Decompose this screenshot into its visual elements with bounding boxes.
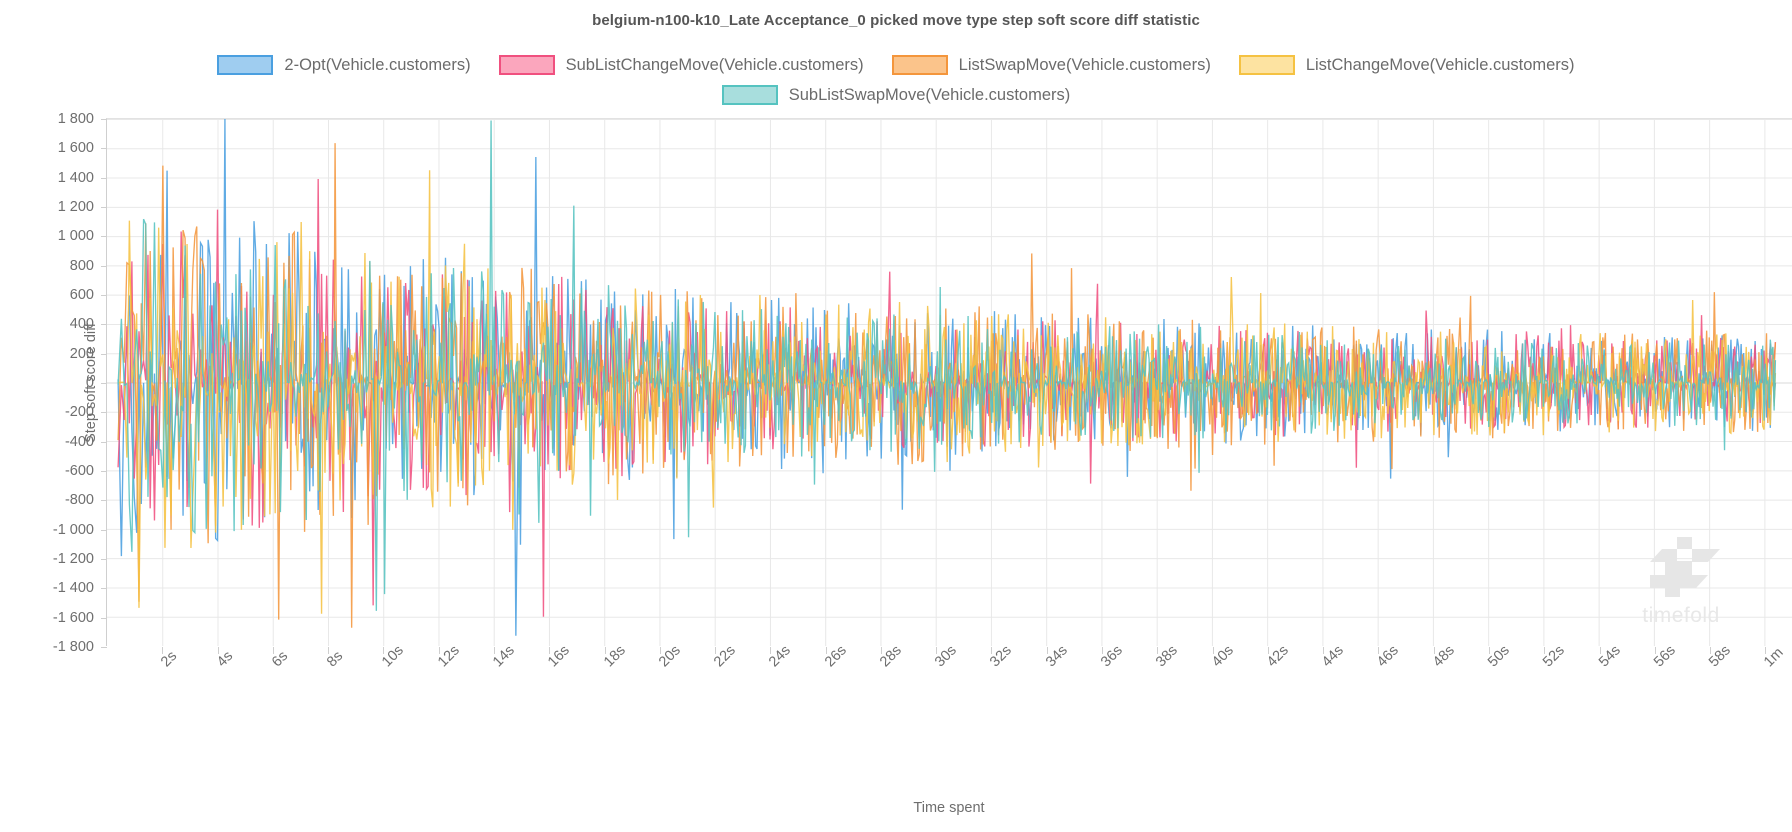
x-axis-title: Time spent bbox=[106, 800, 1792, 816]
y-tick-mark-2 bbox=[101, 178, 107, 179]
y-tick-mark-11 bbox=[101, 442, 107, 443]
y-tick-mark-6 bbox=[101, 295, 107, 296]
legend-label-1: SubListChangeMove(Vehicle.customers) bbox=[566, 56, 864, 75]
y-tick-mark-1 bbox=[101, 148, 107, 149]
y-tick-mark-8 bbox=[101, 354, 107, 355]
y-tick-mark-3 bbox=[101, 207, 107, 208]
y-tick-mark-10 bbox=[101, 412, 107, 413]
chart-container: belgium-n100-k10_Late Acceptance_0 picke… bbox=[0, 0, 1792, 832]
y-tick-label-3: 1 200 bbox=[0, 199, 94, 215]
legend-item-1[interactable]: SubListChangeMove(Vehicle.customers) bbox=[499, 55, 864, 75]
y-tick-mark-14 bbox=[101, 530, 107, 531]
legend-row-primary: 2-Opt(Vehicle.customers)SubListChangeMov… bbox=[0, 50, 1792, 80]
y-tick-mark-16 bbox=[101, 588, 107, 589]
y-tick-mark-18 bbox=[101, 647, 107, 648]
y-tick-mark-13 bbox=[101, 500, 107, 501]
y-tick-label-17: -1 600 bbox=[0, 610, 94, 626]
y-tick-mark-7 bbox=[101, 324, 107, 325]
legend-label-4: SubListSwapMove(Vehicle.customers) bbox=[789, 86, 1071, 105]
y-tick-label-11: -400 bbox=[0, 434, 94, 450]
series-layer bbox=[107, 119, 1792, 646]
y-tick-label-8: 200 bbox=[0, 346, 94, 362]
y-tick-label-14: -1 000 bbox=[0, 522, 94, 538]
legend-item-0[interactable]: 2-Opt(Vehicle.customers) bbox=[217, 55, 470, 75]
legend-swatch-icon-0 bbox=[217, 55, 273, 75]
series-line-4 bbox=[118, 120, 1775, 610]
legend-label-0: 2-Opt(Vehicle.customers) bbox=[284, 56, 470, 75]
y-tick-label-18: -1 800 bbox=[0, 639, 94, 655]
y-tick-label-6: 600 bbox=[0, 287, 94, 303]
y-tick-mark-0 bbox=[101, 119, 107, 120]
legend-row-secondary: SubListSwapMove(Vehicle.customers) bbox=[0, 80, 1792, 110]
y-tick-label-7: 400 bbox=[0, 316, 94, 332]
plot-area: timefold 1 8001 6001 4001 2001 000800600… bbox=[106, 118, 1792, 646]
y-tick-label-0: 1 800 bbox=[0, 111, 94, 127]
y-tick-label-16: -1 400 bbox=[0, 580, 94, 596]
y-tick-label-2: 1 400 bbox=[0, 170, 94, 186]
chart-title: belgium-n100-k10_Late Acceptance_0 picke… bbox=[0, 12, 1792, 29]
y-tick-label-10: -200 bbox=[0, 404, 94, 420]
legend-swatch-icon-2 bbox=[892, 55, 948, 75]
legend-label-2: ListSwapMove(Vehicle.customers) bbox=[959, 56, 1211, 75]
chart-legend: 2-Opt(Vehicle.customers)SubListChangeMov… bbox=[0, 50, 1792, 110]
y-tick-mark-12 bbox=[101, 471, 107, 472]
legend-swatch-icon-1 bbox=[499, 55, 555, 75]
y-tick-label-13: -800 bbox=[0, 492, 94, 508]
y-tick-label-5: 800 bbox=[0, 258, 94, 274]
y-tick-mark-9 bbox=[101, 383, 107, 384]
y-axis-title: Step soft score diff bbox=[83, 323, 99, 443]
y-tick-mark-4 bbox=[101, 236, 107, 237]
y-tick-mark-5 bbox=[101, 266, 107, 267]
legend-label-3: ListChangeMove(Vehicle.customers) bbox=[1306, 56, 1575, 75]
y-tick-label-1: 1 600 bbox=[0, 140, 94, 156]
legend-item-4[interactable]: SubListSwapMove(Vehicle.customers) bbox=[722, 85, 1071, 105]
legend-swatch-icon-3 bbox=[1239, 55, 1295, 75]
y-tick-label-12: -600 bbox=[0, 463, 94, 479]
y-tick-label-4: 1 000 bbox=[0, 228, 94, 244]
legend-item-2[interactable]: ListSwapMove(Vehicle.customers) bbox=[892, 55, 1211, 75]
legend-swatch-icon-4 bbox=[722, 85, 778, 105]
y-tick-mark-15 bbox=[101, 559, 107, 560]
y-tick-label-9: 0 bbox=[0, 375, 94, 391]
y-tick-mark-17 bbox=[101, 618, 107, 619]
legend-item-3[interactable]: ListChangeMove(Vehicle.customers) bbox=[1239, 55, 1575, 75]
y-tick-label-15: -1 200 bbox=[0, 551, 94, 567]
